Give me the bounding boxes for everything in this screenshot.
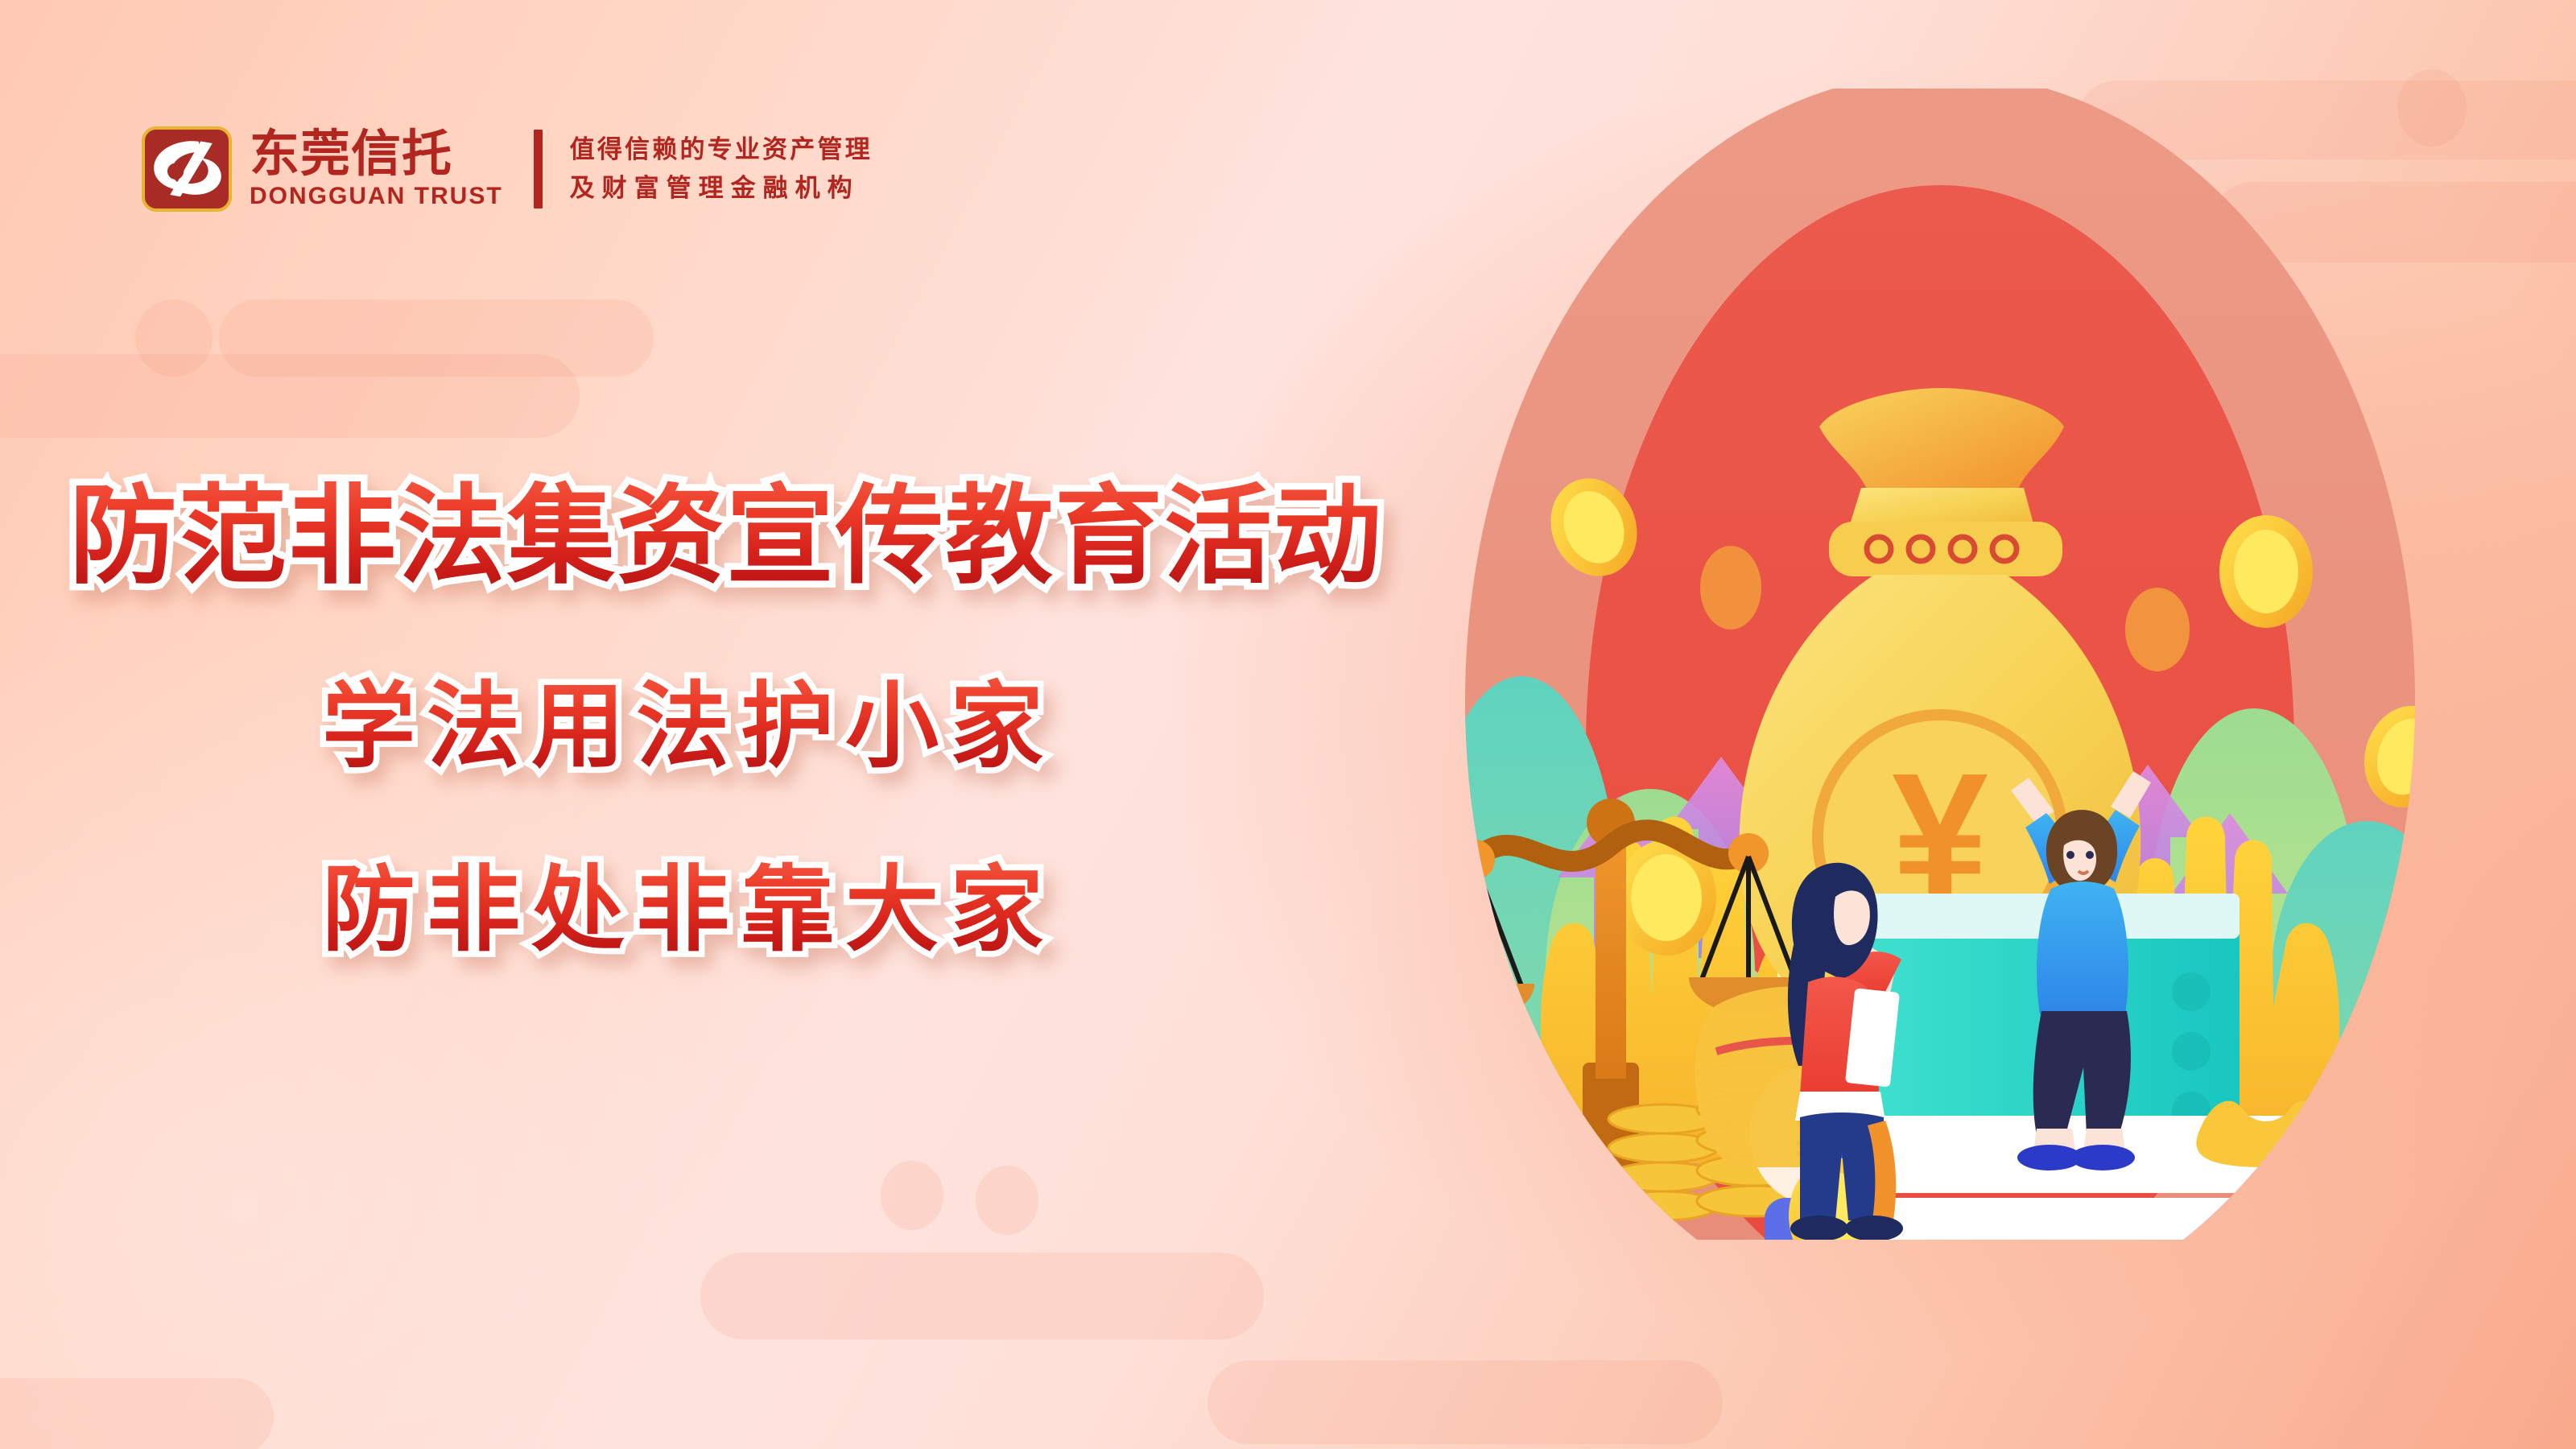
poster-canvas: 东莞信托 DONGGUAN TRUST 值得信赖的专业资产管理 及财富管理金融机…	[0, 0, 2576, 1449]
brand-lockup: 东莞信托 DONGGUAN TRUST 值得信赖的专业资产管理 及财富管理金融机…	[142, 121, 873, 217]
headline-line-3-text: 防非处非靠大家	[322, 857, 1055, 962]
headline-line-1-text: 防范非法集资宣传教育活动	[69, 477, 1383, 597]
bg-pill-7	[0, 1378, 274, 1449]
bg-dot-1	[135, 299, 213, 377]
headline-line-3: 防非处非靠大家 防非处非靠大家	[322, 863, 1417, 956]
brand-tagline: 值得信赖的专业资产管理 及财富管理金融机构	[570, 135, 873, 202]
bg-pill-5	[700, 1253, 1264, 1340]
bg-dot-4	[976, 1166, 1038, 1235]
brand-name-cn: 东莞信托	[250, 129, 503, 180]
tagline-line-1: 值得信赖的专业资产管理	[570, 135, 873, 164]
headline-line-2: 学法用法护小家 学法用法护小家	[322, 679, 1417, 773]
brand-divider	[534, 130, 543, 208]
brand-names: 东莞信托 DONGGUAN TRUST	[250, 129, 503, 209]
bg-dot-3	[881, 1161, 943, 1230]
dongguan-trust-emblem-icon	[142, 126, 232, 212]
gold-ingot-icon	[2196, 1101, 2434, 1167]
headline-line-2-text: 学法用法护小家	[322, 674, 1055, 778]
illustration-anti-illegal-fundraising: ¥	[1352, 89, 2528, 1240]
headline-line-1: 防范非法集资宣传教育活动 防范非法集资宣传教育活动	[69, 483, 1417, 591]
bg-pill-6	[1207, 1360, 1723, 1444]
headline-group: 防范非法集资宣传教育活动 防范非法集资宣传教育活动 学法用法护小家 学法用法护小…	[0, 483, 1417, 956]
tagline-line-2: 及财富管理金融机构	[570, 174, 873, 203]
brand-name-en: DONGGUAN TRUST	[250, 183, 503, 209]
bg-pill-2	[219, 299, 654, 377]
